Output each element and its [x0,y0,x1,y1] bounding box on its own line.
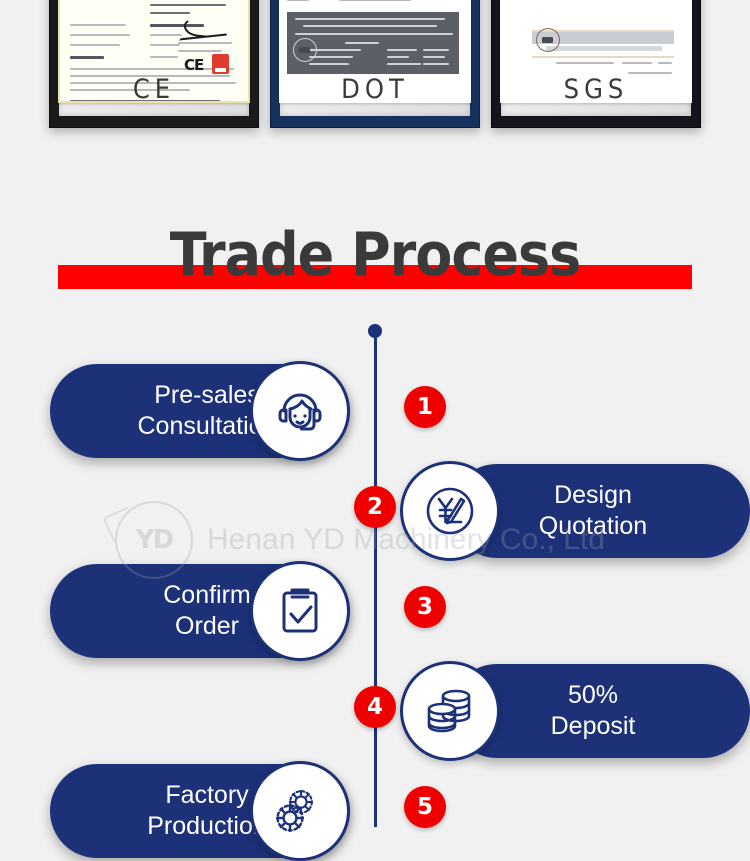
step-number-1: 1 [404,386,446,428]
ce-mark-icon: CE [184,56,203,74]
process-step-3[interactable]: Confirm Order 3 [50,564,450,658]
certificate-label-sgs: SGS [491,74,701,105]
certificate-card-ce[interactable]: CE CE [49,0,259,128]
step-number-4: 4 [354,686,396,728]
coin-stack-icon [400,661,500,761]
certificate-card-sgs[interactable]: SGS [491,0,701,128]
certificates-section: CE CE [0,0,750,190]
step-number-3: 3 [404,586,446,628]
dot-data-table [287,12,459,74]
certificate-frame: CE [49,0,259,128]
process-step-2[interactable]: Design Quotation 2 [400,464,750,558]
certificate-frame [491,0,701,128]
step-number-5: 5 [404,786,446,828]
headset-support-icon [250,361,350,461]
stamp-seal-icon [536,28,560,52]
page-title: Trade Process [0,218,750,292]
step-number-2: 2 [354,486,396,528]
process-step-4[interactable]: 50% Deposit 4 [400,664,750,758]
yen-pencil-quote-icon [400,461,500,561]
gears-icon [250,761,350,861]
certificate-label-dot: DOT [270,74,480,105]
section-title-block: Trade Process [0,218,750,296]
certificate-label-ce: CE [49,74,259,105]
certificate-frame [270,0,480,128]
trade-process-timeline: Pre-sales Consultation 1 Design [0,296,750,827]
udem-logo-icon [212,54,229,74]
process-step-1[interactable]: Pre-sales Consultation 1 [50,364,450,458]
clipboard-check-icon [250,561,350,661]
process-step-5[interactable]: Factory Production 5 [50,764,450,858]
signature-icon [177,18,227,41]
certificate-card-dot[interactable]: DOT [270,0,480,128]
